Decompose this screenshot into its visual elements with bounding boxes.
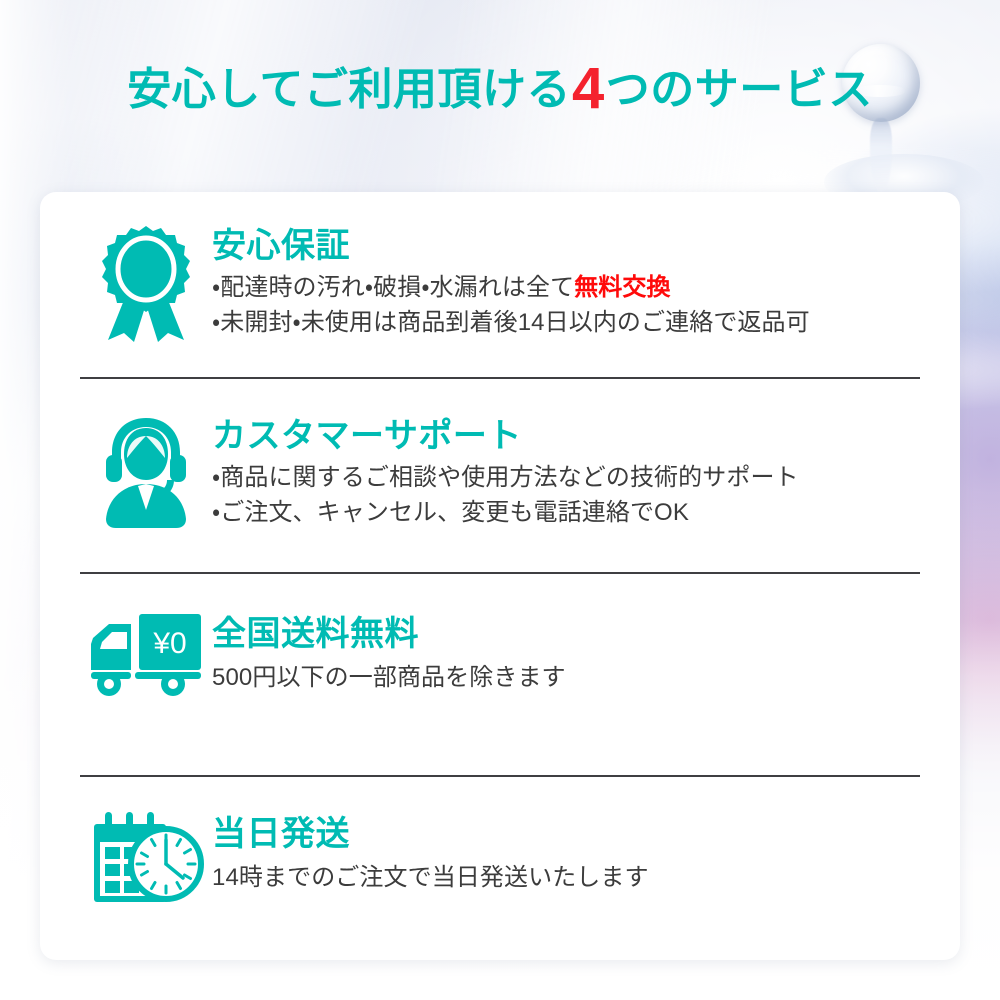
service-line-text: ・配達時の汚れ・破損・水漏れは全て — [212, 274, 574, 301]
headline-prefix: 安心してご利用頂ける — [127, 65, 571, 114]
calendar-clock-icon — [80, 812, 212, 904]
section-divider — [80, 377, 920, 379]
service-title: 全国送料無料 — [212, 614, 920, 654]
service-title: 安心保証 — [212, 226, 920, 266]
service-title: 当日発送 — [212, 814, 920, 854]
service-line: 500円以下の一部商品を除きます — [212, 660, 920, 695]
service-item-customer-support: カスタマーサポート ・商品に関するご相談や使用方法などの技術的サポート ・ご注文… — [80, 414, 920, 530]
service-text-customer-support: カスタマーサポート ・商品に関するご相談や使用方法などの技術的サポート ・ご注文… — [212, 414, 920, 530]
section-divider — [80, 572, 920, 574]
headline-suffix: つのサービス — [606, 65, 873, 114]
service-text-same-day-shipping: 当日発送 14時までのご注文で当日発送いたします — [212, 812, 920, 895]
headset-operator-icon — [80, 414, 212, 530]
service-line: ・配達時の汚れ・破損・水漏れは全て無料交換 — [212, 270, 920, 305]
delivery-truck-icon: ¥0 — [80, 612, 212, 696]
service-line: ・ご注文、キャンセル、変更も電話連絡でOK — [212, 495, 920, 530]
page-title: 安心してご利用頂ける4つのサービス — [0, 60, 1000, 118]
truck-price-label: ¥0 — [152, 627, 186, 660]
headline-count: 4 — [572, 56, 605, 121]
service-line: ・未開封・未使用は商品到着後14日以内のご連絡で返品可 — [212, 305, 920, 340]
water-droplet-graphic — [820, 28, 1000, 218]
service-text-free-shipping: 全国送料無料 500円以下の一部商品を除きます — [212, 612, 920, 695]
service-item-same-day-shipping: 当日発送 14時までのご注文で当日発送いたします — [80, 812, 920, 904]
section-divider — [80, 775, 920, 777]
service-item-free-shipping: ¥0 全国送料無料 500円以下の一部商品を除きます — [80, 612, 920, 696]
service-line: ・商品に関するご相談や使用方法などの技術的サポート — [212, 460, 920, 495]
service-item-guarantee: 安心保証 ・配達時の汚れ・破損・水漏れは全て無料交換 ・未開封・未使用は商品到着… — [80, 224, 920, 342]
service-title: カスタマーサポート — [212, 416, 920, 456]
services-card: 安心保証 ・配達時の汚れ・破損・水漏れは全て無料交換 ・未開封・未使用は商品到着… — [40, 192, 960, 960]
award-ribbon-icon — [80, 224, 212, 342]
service-line-highlight: 無料交換 — [574, 274, 670, 301]
promo-banner: 安心してご利用頂ける4つのサービス 安心保証 ・配達 — [0, 0, 1000, 1000]
service-line: 14時までのご注文で当日発送いたします — [212, 860, 920, 895]
service-text-guarantee: 安心保証 ・配達時の汚れ・破損・水漏れは全て無料交換 ・未開封・未使用は商品到着… — [212, 224, 920, 340]
